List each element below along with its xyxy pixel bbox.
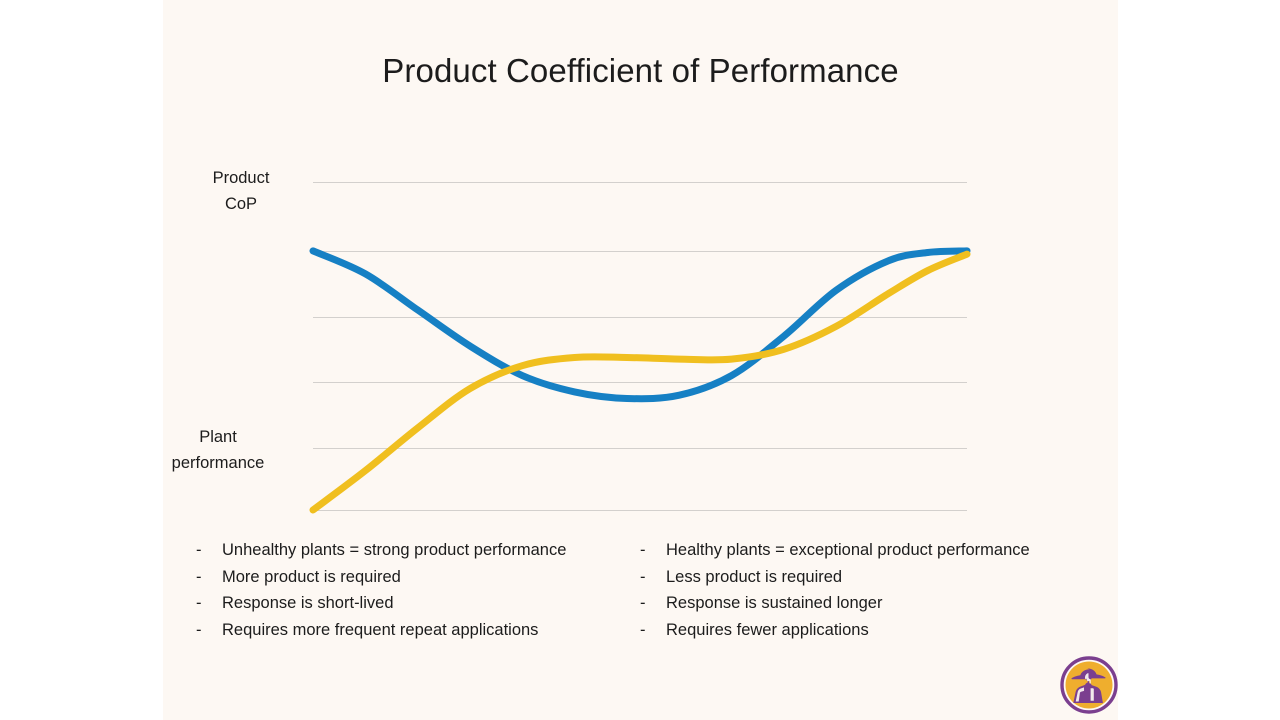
list-item: - Healthy plants = exceptional product p… [640,538,1040,564]
axis-label-product-cop-line2: CoP [171,192,311,218]
list-item-label: Healthy plants = exceptional product per… [666,538,1040,564]
list-item: - Requires more frequent repeat applicat… [196,618,626,644]
bullet-list-right: - Healthy plants = exceptional product p… [640,538,1040,644]
bullet-dash-icon: - [640,538,666,564]
list-item-label: Requires fewer applications [666,618,1040,644]
axis-label-product-cop-line1: Product [171,166,311,192]
bullet-dash-icon: - [196,538,222,564]
list-item: - Unhealthy plants = strong product perf… [196,538,626,564]
series-line-plant-performance [313,254,967,510]
bullet-dash-icon: - [196,591,222,617]
list-item: - Response is sustained longer [640,591,1040,617]
page-title: Product Coefficient of Performance [163,52,1118,90]
list-item: - Response is short-lived [196,591,626,617]
performance-chart: Product CoP Plant performance [313,182,967,510]
list-item-label: Response is sustained longer [666,591,1040,617]
list-item-label: Less product is required [666,565,1040,591]
bullet-dash-icon: - [196,565,222,591]
chart-plot-svg [313,182,967,510]
slide-canvas: Product Coefficient of Performance Produ… [0,0,1280,720]
axis-label-product-cop: Product CoP [171,166,311,217]
list-item-label: Requires more frequent repeat applicatio… [222,618,626,644]
list-item: - More product is required [196,565,626,591]
gridline [313,510,967,511]
bullet-dash-icon: - [640,618,666,644]
list-item-label: Response is short-lived [222,591,626,617]
list-item: - Less product is required [640,565,1040,591]
rancher-hat-figure-logo [1060,656,1118,714]
bullet-dash-icon: - [196,618,222,644]
list-item-label: Unhealthy plants = strong product perfor… [222,538,626,564]
slide-panel: Product Coefficient of Performance Produ… [163,0,1118,720]
list-item-label: More product is required [222,565,626,591]
bullet-dash-icon: - [640,591,666,617]
series-line-product-cop [313,251,967,399]
logo-torso-highlight [1091,688,1094,701]
bullet-dash-icon: - [640,565,666,591]
axis-label-plant-performance: Plant performance [123,425,313,476]
axis-label-plant-performance-line2: performance [123,451,313,477]
bullet-list-left: - Unhealthy plants = strong product perf… [196,538,626,644]
list-item: - Requires fewer applications [640,618,1040,644]
axis-label-plant-performance-line1: Plant [123,425,313,451]
